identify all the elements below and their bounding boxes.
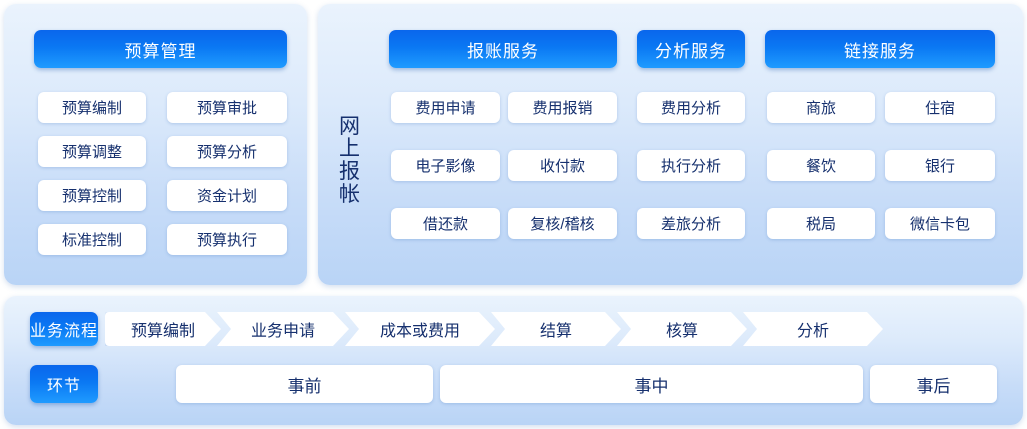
reimbursement-item-0-1[interactable]: 电子影像 xyxy=(391,150,500,181)
stage-box-2[interactable]: 事后 xyxy=(870,365,997,403)
side-label-char-0: 网 xyxy=(339,116,361,139)
business-flow-panel: 业务流程 预算编制 业务申请 成本或费用 结算 核算 分析 环节 事前 事中 事… xyxy=(4,296,1023,425)
analysis-item-1[interactable]: 执行分析 xyxy=(637,150,745,181)
process-step-0[interactable]: 预算编制 xyxy=(105,312,221,346)
group-header-analysis[interactable]: 分析服务 xyxy=(637,30,745,68)
link-item-0-2[interactable]: 税局 xyxy=(767,208,875,239)
reimbursement-item-1-2[interactable]: 复核/稽核 xyxy=(508,208,617,239)
diagram-canvas: 预算管理 预算编制 预算审批 预算调整 预算分析 预算控制 资金计划 标准控制 … xyxy=(0,0,1027,429)
process-step-3[interactable]: 结算 xyxy=(491,312,621,346)
stage-label[interactable]: 环节 xyxy=(30,365,98,403)
process-step-1[interactable]: 业务申请 xyxy=(217,312,349,346)
link-item-0-0[interactable]: 商旅 xyxy=(767,92,875,123)
budget-item-1[interactable]: 预算审批 xyxy=(167,92,287,123)
side-label-char-2: 报 xyxy=(339,161,361,184)
budget-item-5[interactable]: 资金计划 xyxy=(167,180,287,211)
group-header-reimbursement[interactable]: 报账服务 xyxy=(389,30,617,68)
budget-management-panel: 预算管理 预算编制 预算审批 预算调整 预算分析 预算控制 资金计划 标准控制 … xyxy=(4,4,307,285)
process-step-2[interactable]: 成本或费用 xyxy=(345,312,495,346)
link-item-1-2[interactable]: 微信卡包 xyxy=(885,208,995,239)
reimbursement-item-0-0[interactable]: 费用申请 xyxy=(391,92,500,123)
online-reimbursement-panel: 网 上 报 帐 报账服务 分析服务 链接服务 费用申请 电子影像 借还款 费用报… xyxy=(318,4,1023,285)
process-step-5[interactable]: 分析 xyxy=(743,312,883,346)
link-item-1-0[interactable]: 住宿 xyxy=(885,92,995,123)
reimbursement-item-1-1[interactable]: 收付款 xyxy=(508,150,617,181)
analysis-item-0[interactable]: 费用分析 xyxy=(637,92,745,123)
reimbursement-item-0-2[interactable]: 借还款 xyxy=(391,208,500,239)
group-header-link[interactable]: 链接服务 xyxy=(765,30,995,68)
stage-box-0[interactable]: 事前 xyxy=(176,365,433,403)
budget-item-7[interactable]: 预算执行 xyxy=(167,224,287,255)
reimbursement-item-1-0[interactable]: 费用报销 xyxy=(508,92,617,123)
link-item-0-1[interactable]: 餐饮 xyxy=(767,150,875,181)
process-flow-label[interactable]: 业务流程 xyxy=(30,312,98,346)
budget-item-6[interactable]: 标准控制 xyxy=(38,224,146,255)
side-label-char-3: 帐 xyxy=(339,184,361,207)
budget-item-0[interactable]: 预算编制 xyxy=(38,92,146,123)
process-step-4[interactable]: 核算 xyxy=(617,312,747,346)
budget-item-4[interactable]: 预算控制 xyxy=(38,180,146,211)
budget-panel-header[interactable]: 预算管理 xyxy=(34,30,287,68)
analysis-item-2[interactable]: 差旅分析 xyxy=(637,208,745,239)
side-label-char-1: 上 xyxy=(339,138,361,161)
stage-box-1[interactable]: 事中 xyxy=(440,365,863,403)
link-item-1-1[interactable]: 银行 xyxy=(885,150,995,181)
online-panel-side-label: 网 上 报 帐 xyxy=(328,76,372,246)
budget-item-2[interactable]: 预算调整 xyxy=(38,136,146,167)
budget-item-3[interactable]: 预算分析 xyxy=(167,136,287,167)
